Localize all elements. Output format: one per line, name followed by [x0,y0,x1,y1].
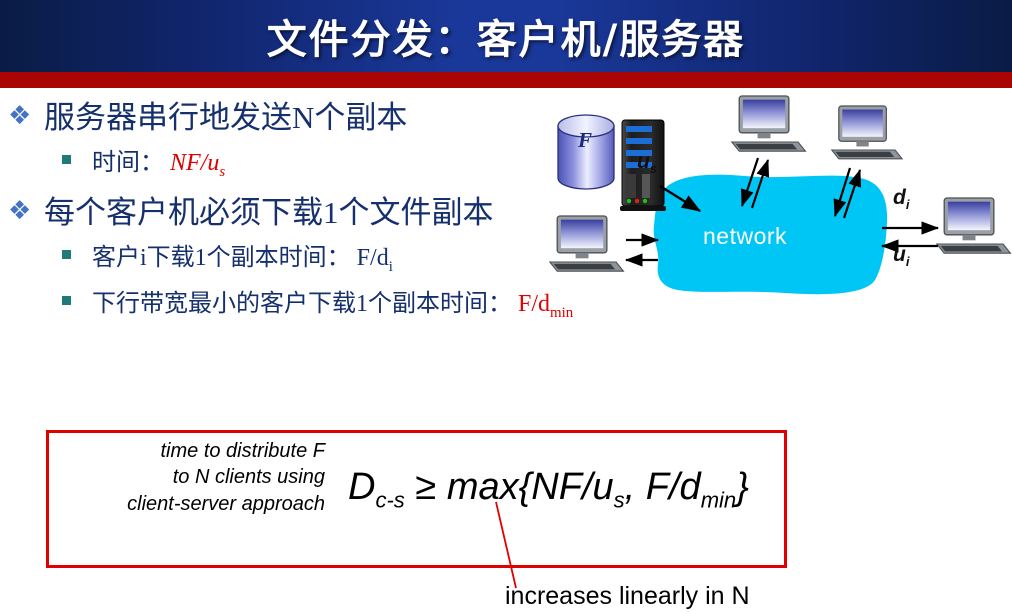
bullet-level2-1-value: NF/us [170,150,225,176]
client-computer-icon [937,198,1011,253]
formula-caption-line-2: to N clients using [60,464,325,490]
formula-caption: time to distribute F to N clients using … [60,438,325,517]
bullet-level2-2-label: 客户i下载1个副本时间： [92,245,351,271]
diamond-bullet-icon: ❖ [8,195,31,228]
client-computer-icon [732,96,806,151]
square-bullet-icon [62,250,71,259]
bullet-level2-3-label: 下行带宽最小的客户下载1个副本时间： [92,291,512,317]
formula-caption-line-1: time to distribute F [60,438,325,464]
annotation-leader-line [490,500,620,590]
network-label: network [703,223,787,250]
client-computer-icon [832,106,902,159]
bullet-level1-1-text: 服务器串行地发送N个副本 [44,100,407,135]
bullet-level2-2-value: F/di [357,245,393,271]
page-title: 文件分发：客户机/服务器 [0,7,1012,65]
bullet-level1-2-text: 每个客户机必须下载1个文件副本 [44,195,494,230]
formula-caption-line-3: client-server approach [60,491,325,517]
square-bullet-icon [62,155,71,164]
network-diagram [530,88,1012,318]
annotation-text: increases linearly in N [505,582,750,611]
slide: 文件分发：客户机/服务器 ❖ 服务器串行地发送N个副本 时间： NF/us ❖ … [0,0,1012,612]
file-label: F [578,128,592,153]
header-red-rule [0,72,1012,88]
square-bullet-icon [62,296,71,305]
bullet-level2-1-label: 时间： [92,150,164,176]
diamond-bullet-icon: ❖ [8,100,31,133]
server-upload-rate-label: us [637,150,657,176]
client-download-rate-label: di [893,186,909,212]
client-upload-rate-label: ui [893,243,909,269]
client-computer-icon [550,216,624,271]
